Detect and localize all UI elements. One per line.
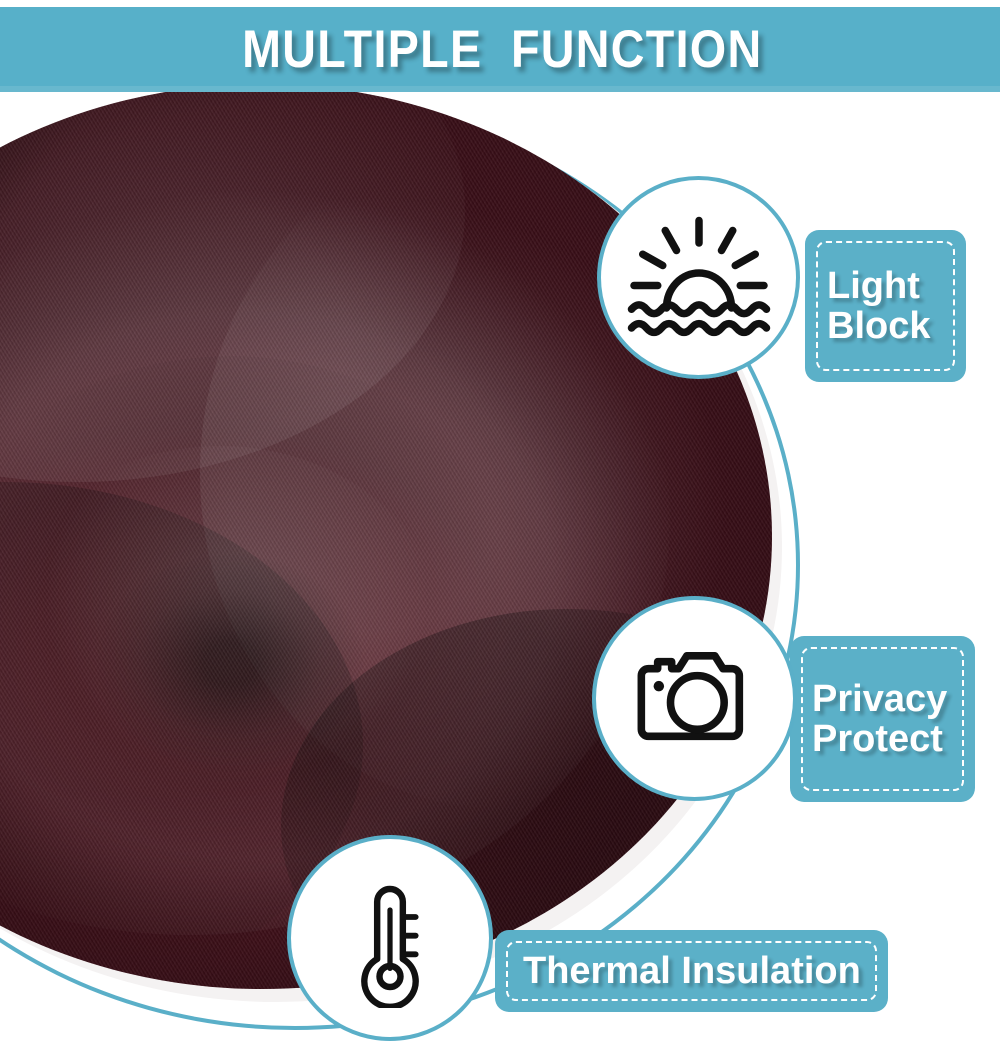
sunrise-icon: [624, 203, 774, 353]
badge-label-line-2: Block: [827, 306, 930, 346]
feature-badge-light-block: Light Block: [805, 230, 966, 382]
badge-label-line-2: Protect: [812, 719, 943, 759]
badge-label: Privacy Protect: [790, 636, 975, 802]
page-title: MULTIPLE FUNCTION: [237, 23, 763, 76]
feature-bubble-thermal-insulation: [287, 835, 493, 1041]
badge-label-line-1: Thermal Insulation: [523, 951, 861, 991]
feature-bubble-light-block: [597, 176, 800, 379]
thermometer-icon: [320, 868, 460, 1008]
badge-label-line-1: Privacy: [812, 679, 947, 719]
product-artwork-area: Light Block: [0, 92, 1000, 1060]
badge-label-line-1: Light: [827, 266, 920, 306]
header-banner: MULTIPLE FUNCTION: [0, 7, 1000, 92]
badge-label: Thermal Insulation: [495, 930, 888, 1012]
feature-badge-thermal-insulation: Thermal Insulation: [495, 930, 888, 1012]
badge-label: Light Block: [805, 230, 966, 382]
infographic-canvas: MULTIPLE FUNCTION Light Block: [0, 0, 1000, 1060]
camera-icon: [625, 629, 765, 769]
feature-bubble-privacy-protect: [592, 596, 797, 801]
feature-badge-privacy-protect: Privacy Protect: [790, 636, 975, 802]
